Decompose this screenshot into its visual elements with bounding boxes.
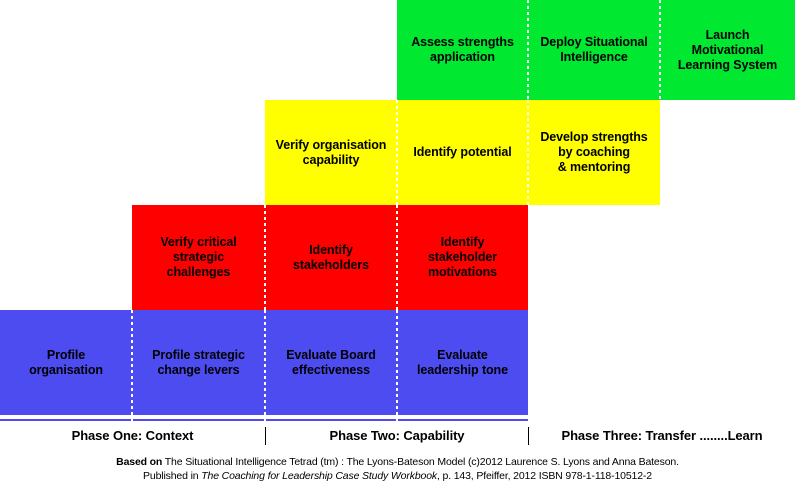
divider-blue-1 bbox=[131, 310, 133, 415]
cell-yellow-1[interactable]: Verify organisation capability bbox=[265, 100, 397, 205]
cell-green-3[interactable]: Launch Motivational Learning System bbox=[660, 0, 795, 100]
phase-rule-2 bbox=[133, 419, 264, 421]
divider-green-1 bbox=[527, 0, 529, 100]
footnote-book-title: The Coaching for Leadership Case Study W… bbox=[201, 470, 437, 482]
divider-green-2 bbox=[659, 0, 661, 100]
cell-blue-3[interactable]: Evaluate Board effectiveness bbox=[265, 310, 397, 415]
footnote-publication-details: , p. 143, Pfeiffer, 2012 ISBN 978-1-118-… bbox=[437, 470, 652, 482]
phase-rule-4 bbox=[398, 419, 528, 421]
phase-label-two: Phase Two: Capability bbox=[266, 428, 528, 443]
cell-blue-4[interactable]: Evaluate leadership tone bbox=[397, 310, 528, 415]
cell-red-3[interactable]: Identify stakeholder motivations bbox=[397, 205, 528, 310]
divider-yellow-1 bbox=[396, 100, 398, 205]
divider-red-1 bbox=[264, 205, 266, 310]
cell-blue-1[interactable]: Profile organisation bbox=[0, 310, 132, 415]
cell-green-1[interactable]: Assess strengths application bbox=[397, 0, 528, 100]
cell-green-2[interactable]: Deploy Situational Intelligence bbox=[528, 0, 660, 100]
staircase-grid: Assess strengths application Deploy Situ… bbox=[0, 0, 795, 415]
divider-blue-3 bbox=[396, 310, 398, 415]
footnote-source-rest: The Situational Intelligence Tetrad (tm)… bbox=[162, 456, 679, 468]
divider-blue-2 bbox=[264, 310, 266, 415]
tetrad-diagram: Assess strengths application Deploy Situ… bbox=[0, 0, 795, 500]
footnote-line-2: Published in The Coaching for Leadership… bbox=[0, 469, 795, 483]
phase-label-three: Phase Three: Transfer ........Learn bbox=[529, 428, 795, 443]
footnote-published-prefix: Published in bbox=[143, 470, 201, 482]
cell-blue-2[interactable]: Profile strategic change levers bbox=[132, 310, 265, 415]
phase-rule-1 bbox=[0, 419, 131, 421]
footnote-line-1: Based on The Situational Intelligence Te… bbox=[0, 455, 795, 469]
phase-rule-3 bbox=[266, 419, 396, 421]
cell-red-1[interactable]: Verify critical strategic challenges bbox=[132, 205, 265, 310]
cell-yellow-3[interactable]: Develop strengths by coaching & mentorin… bbox=[528, 100, 660, 205]
cell-yellow-2[interactable]: Identify potential bbox=[397, 100, 528, 205]
divider-red-2 bbox=[396, 205, 398, 310]
footnote-source-bold: Based on bbox=[116, 456, 162, 468]
divider-yellow-2 bbox=[527, 100, 529, 205]
cell-red-2[interactable]: Identify stakeholders bbox=[265, 205, 397, 310]
phase-band: Phase One: Context Phase Two: Capability… bbox=[0, 418, 795, 450]
phase-label-one: Phase One: Context bbox=[0, 428, 265, 443]
footnote: Based on The Situational Intelligence Te… bbox=[0, 455, 795, 483]
